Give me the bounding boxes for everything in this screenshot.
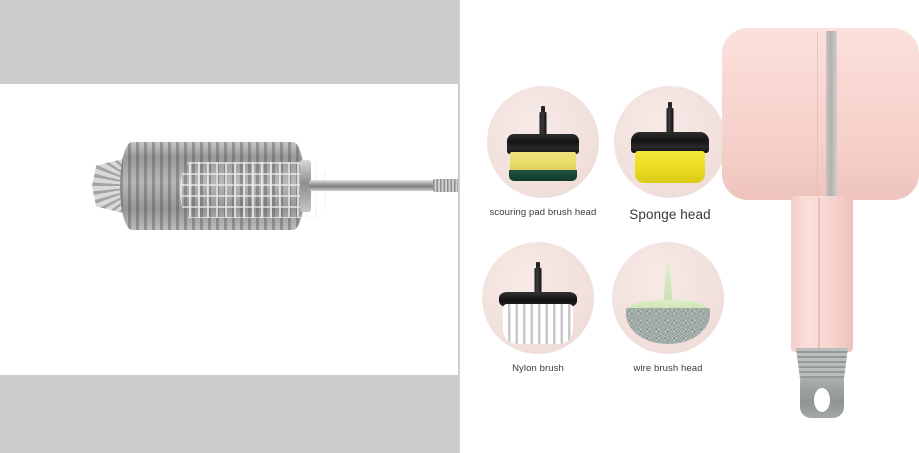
attachments-and-device-panel: scouring pad brush head Sponge head Nylo…: [460, 0, 919, 453]
bottom-grey-band: [0, 375, 458, 453]
brush-bristle-barrel: [120, 142, 305, 230]
product-image-canvas: scouring pad brush head Sponge head Nylo…: [0, 0, 919, 453]
device-hanging-hole: [814, 388, 830, 412]
top-grey-band: [0, 0, 458, 84]
device-motor-housing: [722, 28, 919, 200]
device-ribbed-collar: [796, 348, 848, 380]
handheld-electric-scrubber: [460, 0, 919, 453]
bottle-brush-panel: [0, 0, 458, 453]
device-handle: [791, 196, 853, 352]
bottle-brush-product: [78, 138, 428, 234]
brush-shaft: [309, 180, 437, 191]
device-motor-seam: [817, 31, 818, 200]
device-handle-seam: [818, 198, 820, 350]
brush-knurled-section: [433, 179, 458, 192]
device-accent-band: [826, 31, 837, 200]
